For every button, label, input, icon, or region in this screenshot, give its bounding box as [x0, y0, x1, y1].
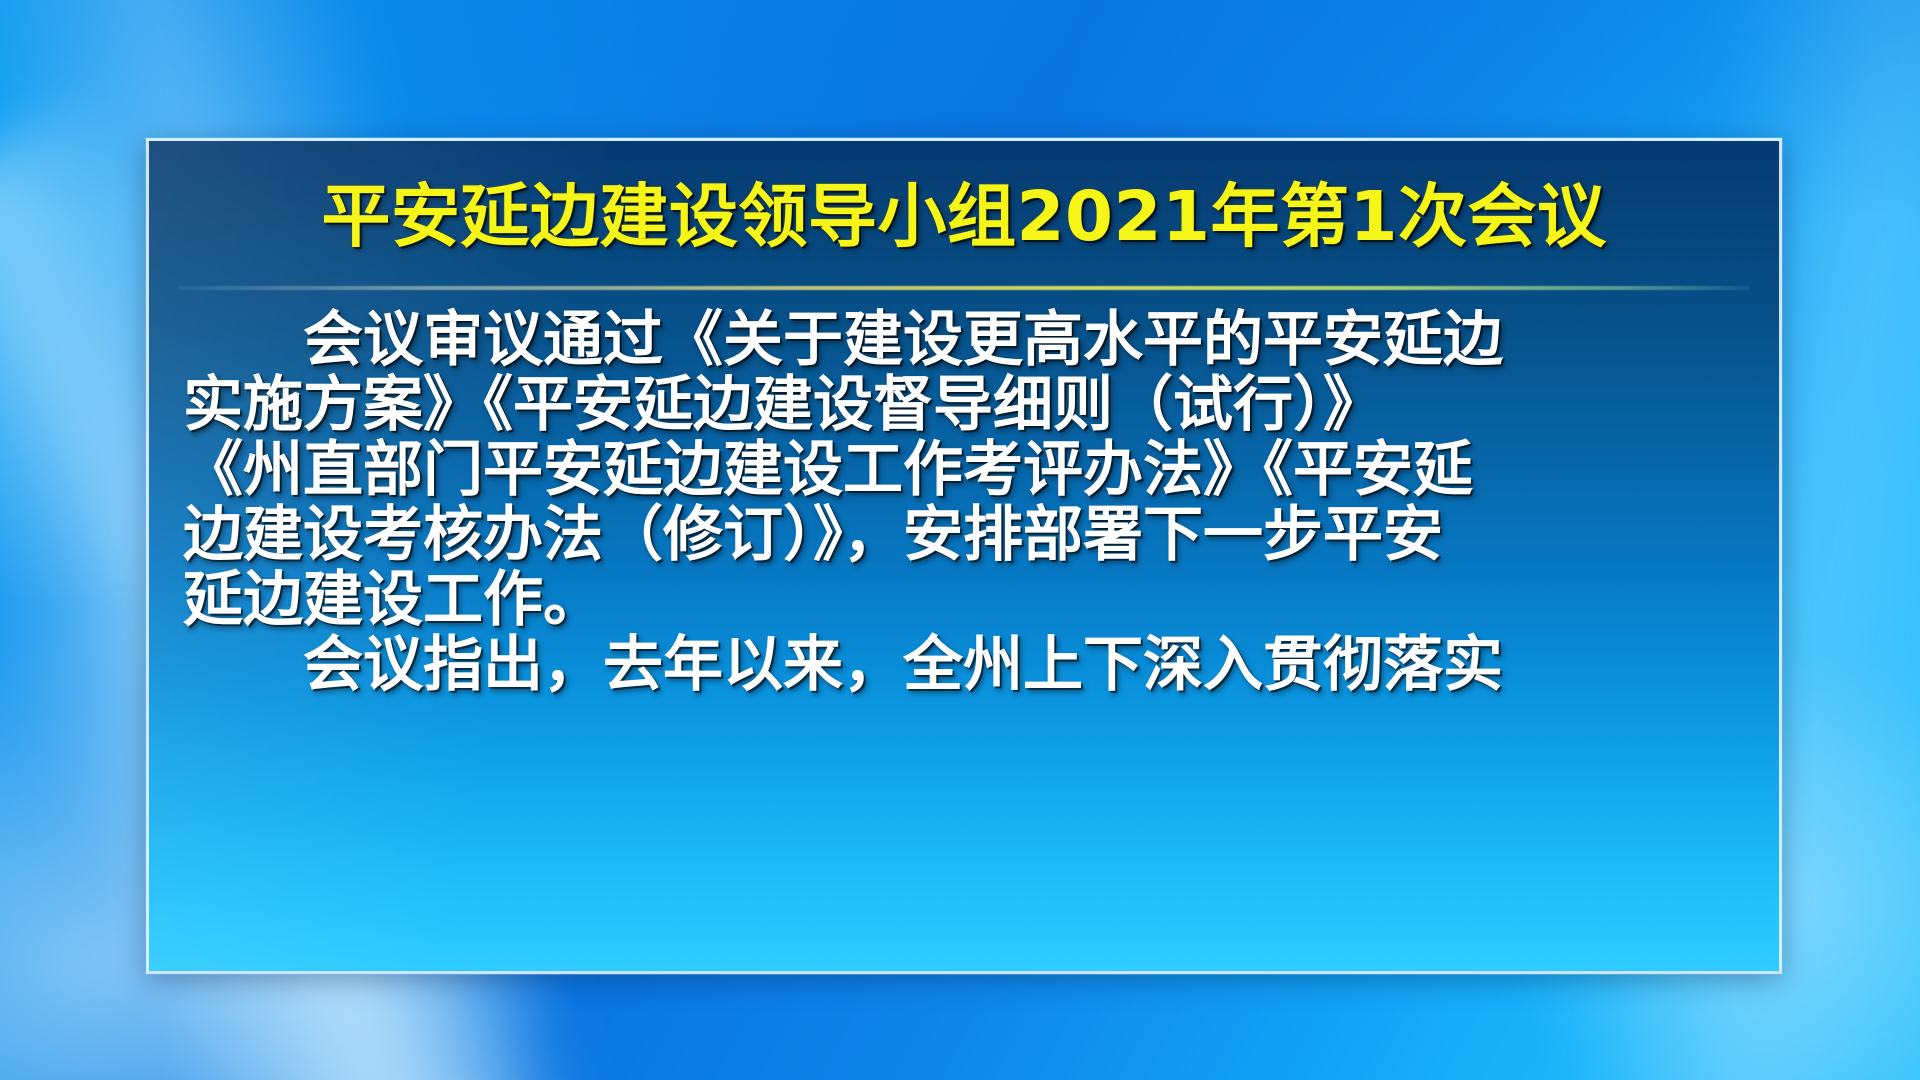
- title-divider: [179, 286, 1749, 290]
- body-line: 实施方案》《平安延边建设督导细则（试行）》: [183, 373, 1743, 438]
- body-line: 会议指出，去年以来，全州上下深入贯彻落实: [183, 633, 1743, 698]
- slide-stage: 平安延边建设领导小组2021年第1次会议 会议审议通过《关于建设更高水平的平安延…: [0, 0, 1920, 1080]
- slide-title: 平安延边建设领导小组2021年第1次会议: [149, 141, 1779, 256]
- caption-panel-inner: 平安延边建设领导小组2021年第1次会议 会议审议通过《关于建设更高水平的平安延…: [149, 141, 1779, 971]
- body-line: 边建设考核办法（修订）》，安排部署下一步平安: [183, 503, 1743, 568]
- body-line: 《州直部门平安延边建设工作考评办法》《平安延: [183, 438, 1743, 503]
- body-line: 延边建设工作。: [183, 568, 1743, 633]
- slide-body: 会议审议通过《关于建设更高水平的平安延边 实施方案》《平安延边建设督导细则（试行…: [149, 290, 1779, 698]
- body-line: 会议审议通过《关于建设更高水平的平安延边: [183, 308, 1743, 373]
- caption-panel: 平安延边建设领导小组2021年第1次会议 会议审议通过《关于建设更高水平的平安延…: [146, 138, 1782, 974]
